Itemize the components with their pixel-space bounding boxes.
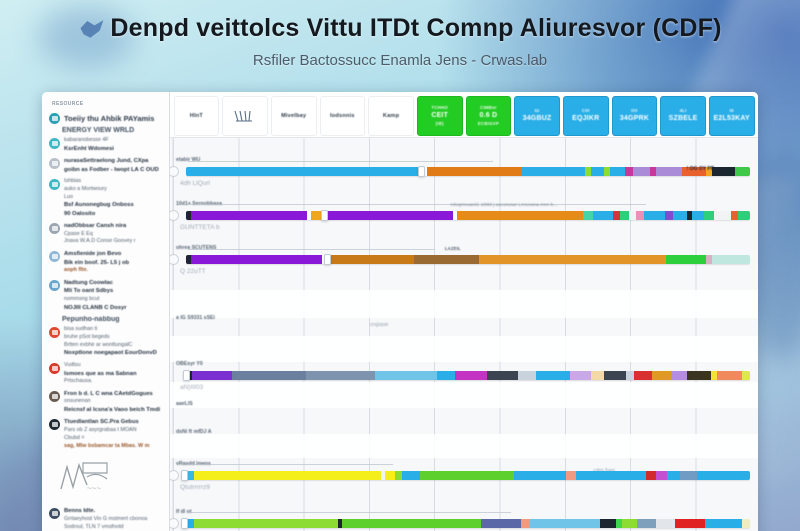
task-bar-segment: [570, 371, 592, 380]
page-title-text: Denpd veittolcs Vittu ITDt Comnp Aliures…: [110, 14, 721, 42]
task-sublabel: aN)III03: [180, 384, 203, 391]
column-header-label: SZBELE: [669, 115, 698, 124]
task-label: OBEsyr Y0: [176, 361, 203, 367]
column-header-label: 34GPRK: [620, 115, 649, 124]
timeline-column-header[interactable]: HInT: [174, 96, 220, 136]
column-header-note: (IB): [436, 121, 444, 127]
timeline-column-header[interactable]: [222, 96, 268, 136]
sidebar-item[interactable]: nadObbsar Cansh niraCpase E EqJnava W.A.…: [49, 221, 164, 247]
task-bar-segment: [634, 371, 652, 380]
timeline-task-row[interactable]: ohrea SCUTENSQ 22uTTLAZEIL: [170, 244, 758, 284]
task-bar-segment: [652, 371, 671, 380]
task-bar-segment: [530, 519, 600, 528]
task-bar-segment: [636, 211, 644, 220]
timeline-task-row[interactable]: vRasdd inwosQtutrrrrrz9cdns fseq: [170, 460, 758, 500]
alert-icon: [49, 327, 60, 338]
task-bar-segment: [622, 519, 637, 528]
page-title: Denpd veittolcs Vittu ITDt Comnp Aliures…: [0, 14, 800, 43]
sidebar-item[interactable]: bisa sudhan tibruhe pSot begedsBrtten ex…: [49, 325, 164, 359]
task-bar-handle[interactable]: [181, 470, 188, 481]
task-bar-segment: [521, 519, 531, 528]
column-header-sublabel: IU: [535, 108, 540, 114]
sidebar-item-label: Luo: [64, 194, 164, 202]
moon-icon: [49, 419, 60, 430]
sidebar-item-body: Nadtung CoowlacMli To oant Sdbysnommsng …: [64, 279, 164, 312]
timeline-task-row[interactable]: OBEsyr Y0aN)III03: [170, 360, 758, 400]
sidebar-item-label: Nadtung Coowlac: [64, 279, 164, 287]
column-header-sublabel: CIMBor: [480, 105, 497, 111]
timeline-grid[interactable]: etabir WU4dh LlQurl! OG OY PB10d1+ Serno…: [170, 138, 758, 531]
sidebar-item-label: Ismoes que as ma Sabnan: [64, 370, 164, 378]
task-bar-segment: [455, 371, 487, 380]
task-bar[interactable]: [186, 371, 750, 380]
timeline-column-header[interactable]: CIIIEQJIKR: [563, 96, 609, 136]
task-sublabel: Q 22uTT: [180, 268, 206, 275]
task-sublabel: Qtutrrrrrz9: [180, 484, 210, 491]
sidebar-item-label: goibn as Fodber - Iwopt LA C OUD: [64, 166, 164, 174]
task-bar-segment: [192, 371, 232, 380]
task-bar-track: LAZEIL: [174, 255, 750, 264]
sidebar-item[interactable]: Amsfienide jon BevoBik ein boof. 25- L5 …: [49, 249, 164, 276]
task-bar-segment: [687, 371, 711, 380]
task-bar-track: ! OG OY PB: [174, 167, 750, 176]
task-bar-segment: [232, 371, 306, 380]
sidebar-item[interactable]: kabaranobesse 4FKsrEnht Wdomesi: [49, 136, 164, 154]
task-bar-segment: [576, 471, 646, 480]
task-bar-segment: [375, 371, 438, 380]
task-connector-line: [188, 249, 435, 250]
column-header-label: E2L53KAY: [714, 115, 750, 124]
sidebar-item-label: Bsf Aunonegbug Onboss: [64, 201, 164, 209]
page-header: Denpd veittolcs Vittu ITDt Comnp Aliures…: [0, 14, 800, 69]
task-bar-handle[interactable]: [181, 518, 188, 529]
column-header-note: ECBIGVP: [478, 121, 499, 127]
sidebar-item-label: nommsng bcut: [64, 296, 164, 304]
sidebar-item-label: Fron b d. L C wna CAetdGogues: [64, 390, 164, 398]
task-bar[interactable]: [186, 519, 750, 528]
sidebar-item-label: Ttuedlantlan SC.Pra Gebus: [64, 418, 164, 426]
sidebar-item-list-secondary: bisa sudhan tibruhe pSot begedsBrtten ex…: [49, 325, 164, 451]
sidebar-item-body: nadObbsar Cansh niraCpase E EqJnava W.A.…: [64, 222, 164, 246]
sidebar-item-label: Noxptlone noegapaot EourDonvD: [64, 349, 164, 357]
task-connector-line: [188, 512, 511, 513]
task-bar-segment: [414, 255, 478, 264]
task-bar-segment: [692, 211, 705, 220]
task-bar-segment: [738, 211, 750, 220]
task-bar-track: rnloqmnoaniG 10t93 j auconosar Lrroceana…: [174, 211, 750, 220]
sidebar-item-label: sag, Mlw bsbamcar ta Mbas. W m: [64, 443, 164, 451]
task-bar-segment: [637, 519, 655, 528]
sidebar-item-body: Ttuedlantlan SC.Pra GebusPars ob Z asyrg…: [64, 418, 164, 450]
task-bar-segment: [479, 255, 667, 264]
sidebar-item-label: Cbubd =: [64, 435, 164, 443]
sidebar-item-body: bisa sudhan tibruhe pSot begedsBrtten ex…: [64, 326, 164, 358]
column-header-sublabel: CIII: [582, 108, 590, 114]
sidebar-item-label: KsrEnht Wdomesi: [64, 145, 164, 153]
timeline-column-header[interactable]: Kamp: [368, 96, 414, 136]
task-bar-segment: [629, 211, 636, 220]
sidebar-item[interactable]: Benns Idte.Grrtaeyhost Vin G mstmert cbo…: [49, 506, 164, 531]
task-bar-segment: [306, 371, 374, 380]
task-bar-segment: [680, 471, 698, 480]
task-bar-segment: [604, 371, 626, 380]
task-bar-segment: [671, 371, 687, 380]
sidebar-item-body: Amsfienide jon BevoBik ein boof. 25- L5 …: [64, 250, 164, 275]
column-header-sublabel: TCHHO: [431, 105, 448, 111]
sidebar-item-label: Amsfienide jon Bevo: [64, 250, 164, 258]
task-bar-segment: [385, 471, 394, 480]
user-circle-icon: [49, 280, 60, 291]
timeline-watermark-text: crsjsase: [370, 322, 388, 328]
column-header-label: EQJIKR: [572, 115, 599, 124]
task-bar-note: LAZEIL: [445, 246, 461, 251]
sidebar-item[interactable]: Ishbiasauko a MortwouryLuoBsf Aunonegbug…: [49, 177, 164, 219]
svg-text:~~~: ~~~: [87, 484, 101, 493]
task-bar-segment: [593, 211, 612, 220]
record-icon: [49, 363, 60, 374]
grid-icon: [49, 391, 60, 402]
timeline-column-header[interactable]: CIMBor0.6 DECBIGVP: [466, 96, 512, 136]
sidebar-subheading-pepunho: Pepunho-nabbug: [62, 316, 164, 323]
sidebar-item-label: Sodroul, TLN 7 vmsfnotd: [64, 524, 164, 531]
sidebar-item-body: Fron b d. L C wna CAetdGoguesonsunenanRe…: [64, 390, 164, 415]
chart-glyph-icon: [232, 109, 258, 124]
task-bar-segment: [656, 471, 667, 480]
sidebar-item-label: Grrtaeyhost Vin G mstmert cbonoa: [64, 516, 164, 524]
timeline-column-header[interactable]: Iodsnnis: [320, 96, 366, 136]
task-bar[interactable]: [186, 167, 750, 176]
task-bar[interactable]: [186, 211, 750, 220]
sidebar-item-label: nadObbsar Cansh nira: [64, 222, 164, 230]
task-bar-segment: [591, 167, 603, 176]
task-bar-segment: [457, 211, 583, 220]
sidebar-item-label: NOJIII CLANB C Dosyr: [64, 304, 164, 312]
task-bar-track: [174, 471, 750, 480]
sidebar-item-label: Benns Idte.: [64, 507, 164, 515]
sidebar-item[interactable]: nurasaSettraelong Jund, CXpagoibn as Fod…: [49, 156, 164, 175]
task-bar-segment: [714, 211, 730, 220]
task-label: ohrea SCUTENS: [176, 245, 216, 251]
task-bar-segment: [342, 519, 481, 528]
task-bar-segment: [585, 167, 592, 176]
sidebar-item-label: Cpase E Eq: [64, 231, 164, 239]
column-header-label: Iodsnnis: [330, 113, 355, 120]
column-header-label: CEIT: [431, 112, 448, 121]
column-header-label: HInT: [190, 113, 203, 120]
chat-bubble-icon: [49, 138, 60, 149]
sidebar-item-body: kabaranobesse 4FKsrEnht Wdomesi: [64, 137, 164, 153]
task-label: dsNi ft mfDJ A: [176, 429, 212, 435]
task-bar-segment: [427, 167, 523, 176]
timeline-column-header[interactable]: IIIE2L53KAY: [709, 96, 755, 136]
sidebar-subheading-energy: ENERGY VIEW WRLD: [62, 127, 164, 134]
task-bar-segment: [518, 371, 535, 380]
task-bar-segment: [583, 211, 594, 220]
task-label: a IG S9331 sSEi: [176, 315, 215, 321]
column-header-sublabel: 4LI: [680, 108, 687, 114]
task-bar-segment: [191, 255, 322, 264]
sidebar-item[interactable]: VudtsuIsmoes que as ma SabnanPrtschausa.: [49, 361, 164, 387]
task-bar-segment: [665, 211, 673, 220]
task-bar-segment: [656, 167, 682, 176]
sidebar-group-header[interactable]: Toeiiy thu Ahbik PAYamis: [49, 112, 164, 124]
sidebar-item-label: Vudtsu: [64, 362, 164, 370]
sidebar-item-label: bisa sudhan ti: [64, 326, 164, 334]
timeline-task-row[interactable]: a IG S9331 sSEicrsjsase: [170, 314, 758, 354]
task-bar-handle[interactable]: [183, 370, 190, 381]
timeline-column-header-row: HInTMivelbayIodsnnisKampTCHHOCEIT(IB)CIM…: [170, 92, 758, 138]
task-bar-segment: [194, 471, 381, 480]
sidebar-item[interactable]: Ttuedlantlan SC.Pra GebusPars ob Z asyrg…: [49, 417, 164, 451]
task-label: aaeLlS: [176, 401, 193, 407]
sidebar-item-label: Brtten exbhir ar wonttungalC: [64, 342, 164, 350]
globe-icon: [49, 251, 60, 262]
task-bar-segment: [712, 255, 750, 264]
sidebar-item-label: Reicnsf al Icsna'a Vaoo beich Tmdi: [64, 406, 164, 414]
task-bar-track: [174, 519, 750, 528]
app-logo-icon: [49, 113, 60, 124]
speech-icon: [49, 179, 60, 190]
task-bar-segment: [742, 519, 749, 528]
sidebar-item[interactable]: Nadtung CoowlacMli To oant Sdbysnommsng …: [49, 278, 164, 313]
task-bar-segment: [675, 519, 705, 528]
sidebar-item-label: Mli To oant Sdbys: [64, 287, 164, 295]
task-bar-segment: [742, 371, 750, 380]
task-bar-handle[interactable]: [321, 210, 328, 221]
sidebar-item-label: auko a Mortwoury: [64, 186, 164, 194]
column-header-label: 34GBUZ: [523, 115, 552, 124]
task-bar-badge: ! OG OY PB: [687, 166, 715, 172]
task-bar-segment: [323, 211, 453, 220]
doodle-sketch-icon: ~~~: [57, 457, 127, 497]
task-connector-line: [188, 204, 647, 205]
task-bar-segment: [514, 471, 567, 480]
task-bar-segment: [329, 255, 415, 264]
task-sublabel: 4dh LlQurl: [180, 180, 210, 187]
task-bar-segment: [198, 519, 337, 528]
task-bar-segment: [420, 471, 513, 480]
timeline-panel: HInTMivelbayIodsnnisKampTCHHOCEIT(IB)CIM…: [170, 92, 758, 531]
timeline-column-header[interactable]: IOI34GPRK: [612, 96, 658, 136]
sidebar-item-body: Ishbiasauko a MortwouryLuoBsf Aunonegbug…: [64, 178, 164, 218]
task-bar-track: [174, 371, 750, 380]
paperclip-icon: [49, 158, 60, 169]
task-bar-segment: [717, 371, 742, 380]
task-bar-segment: [536, 371, 570, 380]
pencil-icon: [49, 223, 60, 234]
task-bar-segment: [656, 519, 675, 528]
sidebar-item-body: VudtsuIsmoes que as ma SabnanPrtschausa.: [64, 362, 164, 386]
task-bar-segment: [625, 167, 633, 176]
sidebar-item-label: 90 Oalosito: [64, 210, 164, 218]
task-bar-segment: [666, 255, 706, 264]
task-bar-segment: [646, 471, 657, 480]
sidebar-item-label: aoph flte.: [64, 267, 164, 275]
sidebar-item-label: onsunenan: [64, 398, 164, 406]
column-header-label: Kamp: [383, 113, 399, 120]
timeline-task-row[interactable]: 10d1+ SernobbasaGUNTTETA brnloqmnoaniG 1…: [170, 200, 758, 240]
task-bar-segment: [731, 211, 739, 220]
task-bar-segment: [735, 167, 750, 176]
task-bar-segment: [186, 167, 423, 176]
timeline-column-header[interactable]: Mivelbay: [271, 96, 317, 136]
timeline-column-header[interactable]: 4LISZBELE: [660, 96, 706, 136]
task-bar-segment: [610, 167, 625, 176]
sidebar-group-title: Toeiiy thu Ahbik PAYamis: [64, 114, 154, 123]
task-bar-segment: [697, 471, 750, 480]
task-bar-segment: [626, 371, 634, 380]
sidebar-item-label: Bik ein boof. 25- L5 j ob: [64, 259, 164, 267]
column-header-label: 0.6 D: [480, 112, 498, 121]
task-bar-segment: [481, 519, 521, 528]
task-bar-segment: [566, 471, 575, 480]
sidebar-item-label: Ishbias: [64, 178, 164, 186]
page-subtitle-text: Rsfiler Bactossucc Enamla Jens - Crwas.l…: [253, 52, 547, 69]
task-bar-segment: [604, 167, 611, 176]
sidebar-item[interactable]: Fron b d. L C wna CAetdGoguesonsunenanRe…: [49, 389, 164, 416]
task-bar[interactable]: [186, 255, 750, 264]
column-header-sublabel: IOI: [631, 108, 637, 114]
timeline-task-row[interactable]: etabir WU4dh LlQurl! OG OY PB: [170, 156, 758, 196]
task-bar-segment: [712, 167, 735, 176]
sidebar-item-label: kabaranobesse 4F: [64, 137, 164, 145]
task-bar-segment: [704, 211, 714, 220]
sidebar-caption: RESOURCE: [52, 101, 164, 107]
task-bar-segment: [437, 371, 454, 380]
app-window: RESOURCE Toeiiy thu Ahbik PAYamis ENERGY…: [42, 92, 758, 531]
sidebar-item-label: Prtschausa.: [64, 378, 164, 386]
task-label: etabir WU: [176, 157, 200, 163]
task-bar-segment: [633, 167, 650, 176]
task-bar-segment: [600, 519, 616, 528]
task-connector-line: [188, 161, 494, 162]
task-bar-handle[interactable]: [324, 254, 331, 265]
sidebar-item-list-tertiary: Benns Idte.Grrtaeyhost Vin G mstmert cbo…: [49, 506, 164, 531]
task-bar-segment: [487, 371, 519, 380]
sidebar[interactable]: RESOURCE Toeiiy thu Ahbik PAYamis ENERGY…: [42, 92, 170, 531]
timeline-column-header[interactable]: IU34GBUZ: [514, 96, 560, 136]
sidebar-item-label: bruhe pSot begeds: [64, 334, 164, 342]
task-bar-segment: [705, 519, 742, 528]
task-bar-segment: [667, 471, 680, 480]
timeline-column-header[interactable]: TCHHOCEIT(IB): [417, 96, 463, 136]
task-bar-segment: [673, 211, 687, 220]
column-header-sublabel: III: [730, 108, 734, 114]
task-bar[interactable]: [186, 471, 750, 480]
task-bar-segment: [522, 167, 584, 176]
task-bar-segment: [591, 371, 604, 380]
task-bar-note: rnloqmnoaniG 10t93 j auconosar Lrroceana…: [450, 202, 558, 207]
task-bar-segment: [613, 211, 621, 220]
task-bar-handle[interactable]: [418, 166, 425, 177]
sidebar-item-list-primary: kabaranobesse 4FKsrEnht WdomesinurasaSet…: [49, 136, 164, 313]
sidebar-item-body: Benns Idte.Grrtaeyhost Vin G mstmert cbo…: [64, 507, 164, 531]
task-connector-line: [188, 464, 394, 465]
butterfly-icon: [78, 19, 104, 39]
sidebar-item-label: Pars ob Z asyrgrabaa t MOAN: [64, 427, 164, 435]
sidebar-item-body: nurasaSettraelong Jund, CXpagoibn as Fod…: [64, 157, 164, 174]
rocket-icon: [49, 508, 60, 519]
task-bar-segment: [402, 471, 421, 480]
task-bar-segment: [620, 211, 629, 220]
task-sublabel: GUNTTETA b: [180, 224, 220, 231]
timeline-task-row[interactable]: If dl ot(4O1: [170, 508, 758, 531]
task-bar-segment: [191, 211, 307, 220]
sidebar-item-label: Jnava W.A.D Conse Goovey r: [64, 238, 164, 246]
task-bar-segment: [644, 211, 665, 220]
sidebar-item-label: nurasaSettraelong Jund, CXpa: [64, 157, 164, 165]
page-subtitle: Rsfiler Bactossucc Enamla Jens - Crwas.l…: [0, 52, 800, 69]
task-bar-segment: [395, 471, 402, 480]
column-header-label: Mivelbay: [281, 113, 306, 120]
